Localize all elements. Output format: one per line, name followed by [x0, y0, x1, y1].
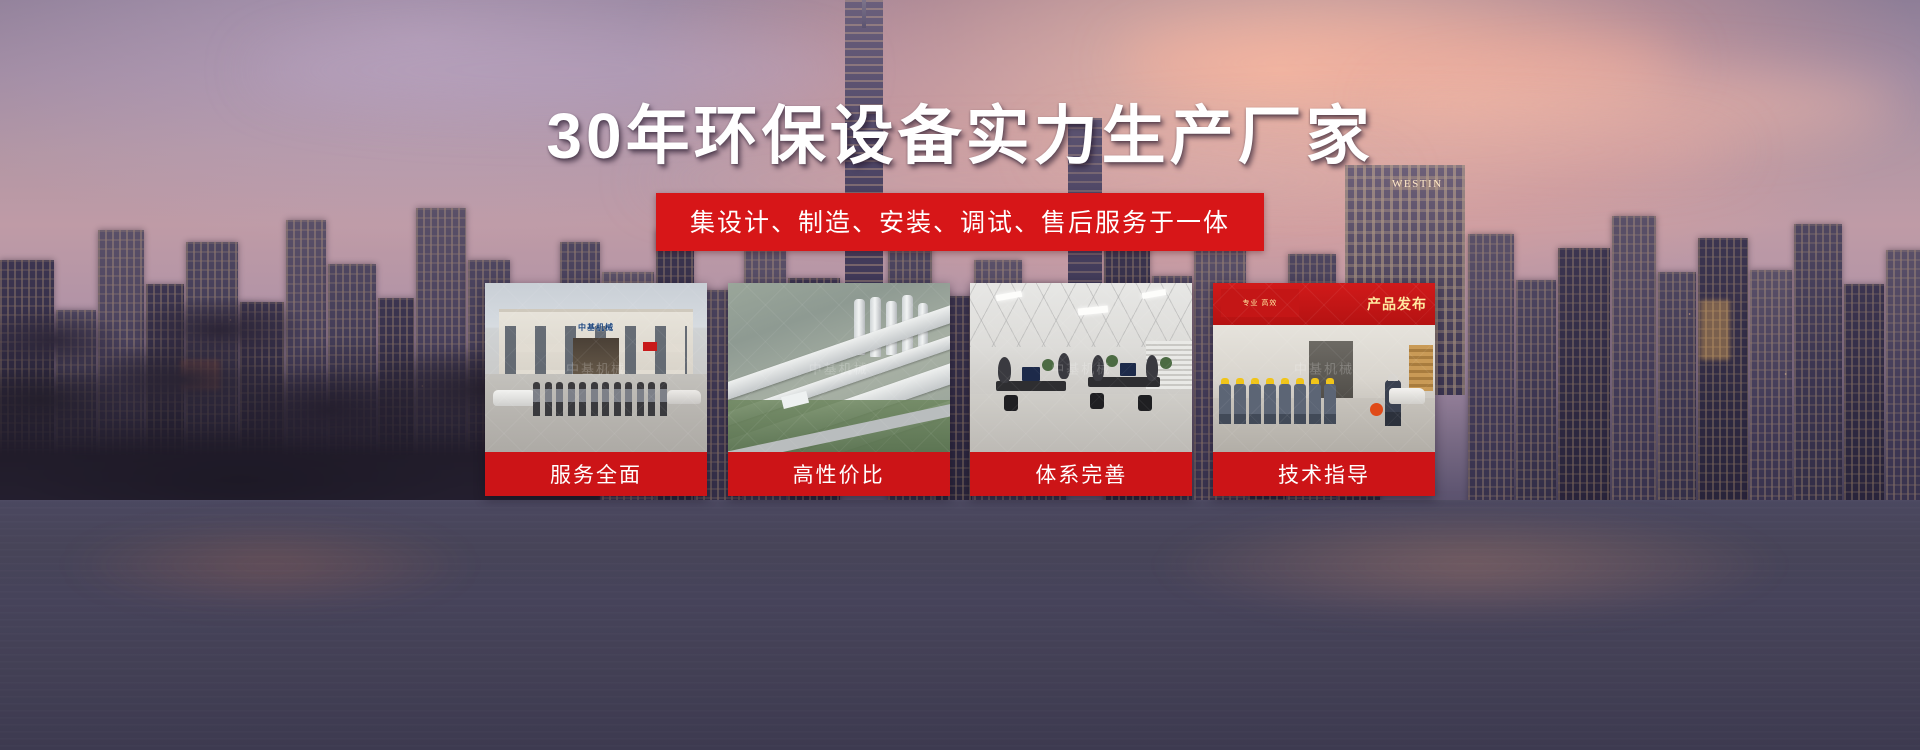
aerial-plant-photo — [728, 283, 950, 452]
card-photo: 中基机械 — [728, 283, 950, 452]
feature-card[interactable]: 中基机械 高性价比 — [728, 283, 950, 496]
card-label: 技术指导 — [1213, 452, 1435, 496]
card-photo: 产品发布 专业 高效 中基机械 — [1213, 283, 1435, 452]
feature-card[interactable]: 中基机械 体系完善 — [970, 283, 1192, 496]
card-photo: 中基机械 — [970, 283, 1192, 452]
feature-card[interactable]: 产品发布 专业 高效 中基机械 技术指导 — [1213, 283, 1435, 496]
office-team-photo — [970, 283, 1192, 452]
card-label: 服务全面 — [485, 452, 707, 496]
card-photo: 中基机械 中基机械 — [485, 283, 707, 452]
card-label: 体系完善 — [970, 452, 1192, 496]
feature-card[interactable]: 中基机械 中基机械 服务全面 — [485, 283, 707, 496]
subtitle-badge: 集设计、制造、安装、调试、售后服务于一体 — [656, 193, 1264, 251]
card-label: 高性价比 — [728, 452, 950, 496]
banner-content: 30年环保设备实力生产厂家 集设计、制造、安装、调试、售后服务于一体 中基机械 — [0, 0, 1920, 750]
factory-banner-text: 产品发布 — [1367, 294, 1427, 314]
factory-crew-photo: 产品发布 专业 高效 — [1213, 283, 1435, 452]
hero-banner: WESTIN 30年环保设备实力生产厂家 集设计、制造、安装、调试、售后服务于一… — [0, 0, 1920, 750]
company-building-photo: 中基机械 — [485, 283, 707, 452]
building-sign-text: 中基机械 — [578, 322, 614, 333]
factory-small-banner: 专业 高效 — [1221, 289, 1299, 317]
feature-card-list: 中基机械 中基机械 服务全面 — [485, 283, 1435, 496]
page-title: 30年环保设备实力生产厂家 — [0, 104, 1920, 168]
